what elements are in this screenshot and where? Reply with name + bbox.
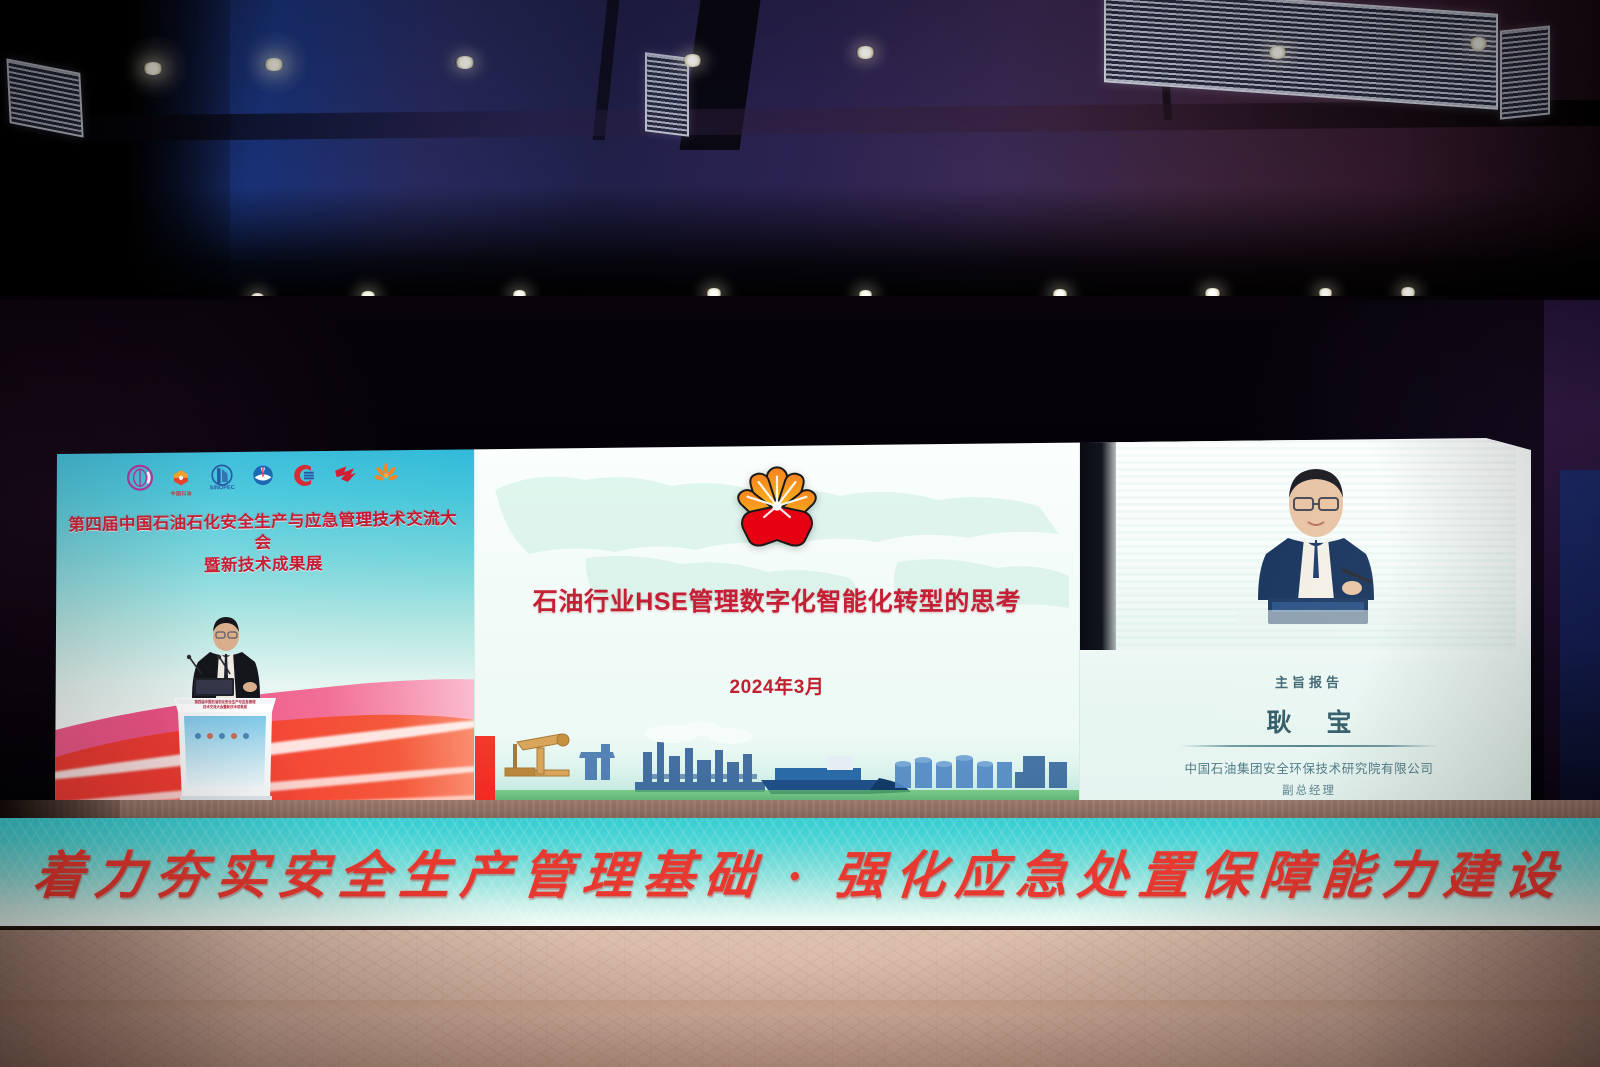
svg-text:技术交流大会暨新技术成果展: 技术交流大会暨新技术成果展: [203, 704, 248, 709]
ceiling-downlight: [455, 56, 475, 69]
industry-imagery-strip: [475, 712, 1079, 808]
svg-text:第四届中国石油石化安全生产与应急管理: 第四届中国石油石化安全生产与应急管理: [194, 699, 256, 704]
ceiling-downlight: [264, 58, 284, 71]
svg-text:SINOPEC: SINOPEC: [210, 485, 235, 491]
sinochem-logo: [290, 461, 318, 489]
slide-date: 2024年3月: [475, 672, 1079, 699]
carpet-shading: [0, 930, 1600, 1067]
speaker-info-card: 主旨报告 耿 宝 中国石油集团安全环保技术研究院有限公司 副总经理: [1080, 658, 1538, 808]
petrochina-logo-label: 中国石油: [167, 490, 195, 497]
slide-title: 石油行业HSE管理数字化智能化转型的思考: [481, 582, 1073, 618]
speaker-position: 副总经理: [1282, 782, 1336, 798]
ceiling-downlight: [1469, 37, 1488, 50]
yanchang-petroleum-logo: [372, 460, 400, 488]
speaker-role-label: 主旨报告: [1275, 672, 1343, 691]
presenter-at-lectern: 第四届中国石油石化安全生产与应急管理 技术交流大会暨新技术成果展: [160, 612, 310, 812]
speaker-divider: [1180, 745, 1438, 747]
ceiling-downlight: [683, 54, 702, 67]
sinopec-logo: SINOPEC: [208, 462, 236, 490]
screen-center-panel: 石油行业HSE管理数字化智能化转型的思考 2024年3月: [474, 436, 1079, 808]
sponsor-logo-row: 中国石油 SINOPEC: [52, 459, 474, 493]
stage-front-banner: 着力夯实安全生产管理基础 · 强化应急处置保障能力建设: [0, 818, 1600, 930]
petrochina-treasure-bottle-logo: [731, 460, 823, 552]
video-frame-left-edge: [1080, 436, 1116, 650]
conference-stage-photo: 中国石油 SINOPEC: [0, 0, 1600, 1067]
conference-title-line1: 第四届中国石油石化安全生产与应急管理技术交流大会: [61, 508, 464, 557]
ceiling-downlight: [856, 46, 875, 59]
conference-title: 第四届中国石油石化安全生产与应急管理技术交流大会 暨新技术成果展: [61, 508, 464, 579]
live-speaker-camera-feed: [1116, 440, 1516, 650]
ceiling-band: [0, 100, 1600, 143]
decorative-red-block: [474, 736, 495, 802]
ceiling-downlight: [1268, 46, 1287, 59]
banner-slogan: 着力夯实安全生产管理基础 · 强化应急处置保障能力建设: [0, 834, 1600, 908]
air-vent-grille-icon: [645, 52, 689, 136]
norinco-logo: [331, 461, 359, 489]
air-vent-grille-icon: [1500, 25, 1550, 119]
screen-right-panel: 主旨报告 耿 宝 中国石油集团安全环保技术研究院有限公司 副总经理: [1079, 436, 1538, 808]
petrochina-logo: 中国石油: [167, 463, 195, 491]
speaker-video-figure: [1216, 458, 1416, 650]
speaker-organization: 中国石油集团安全环保技术研究院有限公司: [1185, 758, 1434, 777]
cnooc-logo: [249, 462, 277, 490]
cnpc-circle-logo: [126, 464, 154, 492]
ceiling-downlight: [143, 62, 163, 75]
ceiling-shadow-left: [0, 0, 230, 300]
side-wall-strip-right: [1560, 470, 1600, 810]
speaker-name: 耿 宝: [1253, 703, 1366, 739]
ceiling: [0, 0, 1600, 300]
